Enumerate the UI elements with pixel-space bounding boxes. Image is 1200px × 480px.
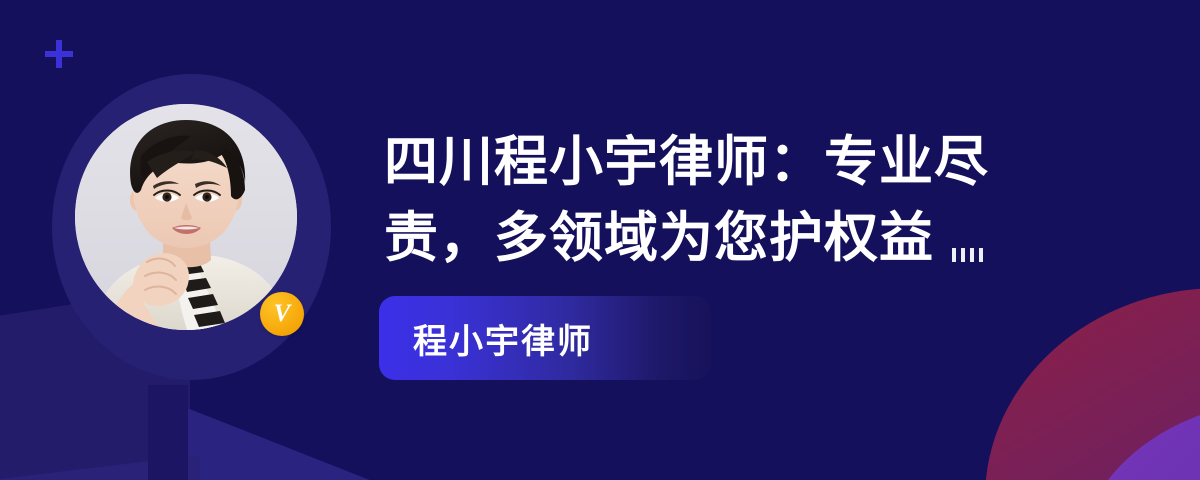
background-facet-triangle: [185, 400, 395, 480]
verified-badge-icon: V: [260, 292, 304, 336]
verified-badge-glyph: V: [274, 301, 291, 326]
headline-block: 四川程小宇律师：专业尽 责，多领域为您护权益: [384, 124, 1084, 276]
avatar-image: [75, 104, 297, 330]
lawyer-profile-banner: V 四川程小宇律师：专业尽 责，多领域为您护权益 程小宇律师: [0, 0, 1200, 480]
plus-icon: [44, 39, 74, 69]
page-title: 四川程小宇律师：专业尽 责，多领域为您护权益: [384, 124, 1084, 276]
background-facet-stem: [148, 385, 188, 480]
avatar: V: [75, 104, 297, 330]
lawyer-name-button[interactable]: 程小宇律师: [379, 296, 711, 380]
